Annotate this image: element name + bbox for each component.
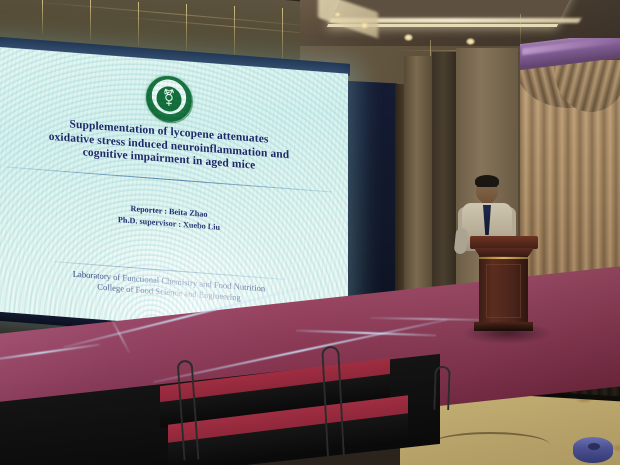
slide-content: ⚧ Supplementation of lycopene attenuates…	[0, 46, 348, 342]
podium-shadow	[462, 322, 552, 344]
cable-reel-hub	[588, 443, 600, 450]
wall-trim-line	[138, 2, 139, 46]
ceiling-downlight	[404, 34, 413, 41]
wall-trim-line	[282, 8, 283, 64]
ceiling-downlight	[466, 38, 475, 45]
projection-screen[interactable]: ⚧ Supplementation of lycopene attenuates…	[0, 46, 348, 342]
wall-trim-line	[186, 4, 187, 52]
ceiling-downlight	[360, 22, 369, 29]
wall-trim-line	[42, 0, 43, 34]
step-handrail-right[interactable]	[433, 366, 451, 411]
university-logo-icon: ⚧	[146, 74, 192, 124]
conference-hall-scene: ⚧ Supplementation of lycopene attenuates…	[0, 0, 620, 465]
podium-gold-trim	[479, 257, 528, 259]
blue-cable-reel	[573, 437, 613, 463]
ceiling-downlight	[334, 12, 341, 17]
podium-bevel	[474, 248, 534, 256]
wheat-icon: ⚧	[162, 90, 175, 107]
podium-front-panel	[486, 264, 521, 318]
podium-lectern-top	[470, 236, 538, 249]
slide-credits: Reporter : Beita Zhao Ph.D. supervisor :…	[4, 193, 334, 242]
wall-trim-line	[234, 6, 235, 58]
glasses-icon	[477, 186, 497, 190]
floor-cable	[430, 432, 550, 458]
